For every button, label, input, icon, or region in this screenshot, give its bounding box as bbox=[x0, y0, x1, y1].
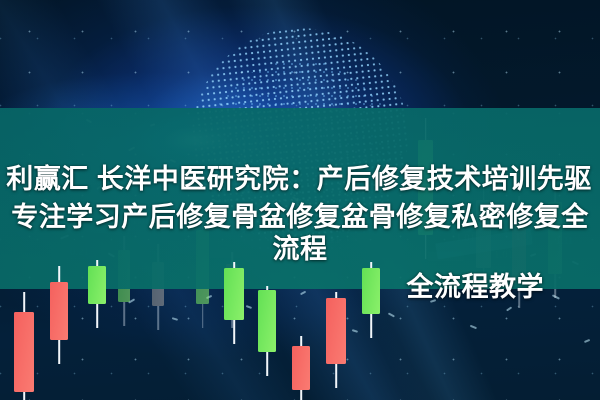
headline-line-3: 全流程教学 bbox=[0, 272, 600, 304]
headline-line-1: 利赢汇 长洋中医研究院：产后修复技术培训先驱 bbox=[0, 164, 600, 196]
candle-body bbox=[326, 298, 346, 364]
candle-body bbox=[292, 346, 310, 390]
candlestick bbox=[292, 336, 310, 400]
headline-block: 利赢汇 长洋中医研究院：产后修复技术培训先驱 专注学习产后修复骨盆修复盆骨修复私… bbox=[0, 164, 600, 303]
candlestick bbox=[14, 292, 34, 400]
promo-banner: 0.110.211.013.111.110.111.010.111.011.01… bbox=[0, 0, 600, 400]
candle-body bbox=[14, 312, 34, 392]
headline-line-2: 专注学习产后修复骨盆修复盆骨修复私密修复全流程 bbox=[0, 202, 600, 266]
candlestick bbox=[326, 292, 346, 388]
